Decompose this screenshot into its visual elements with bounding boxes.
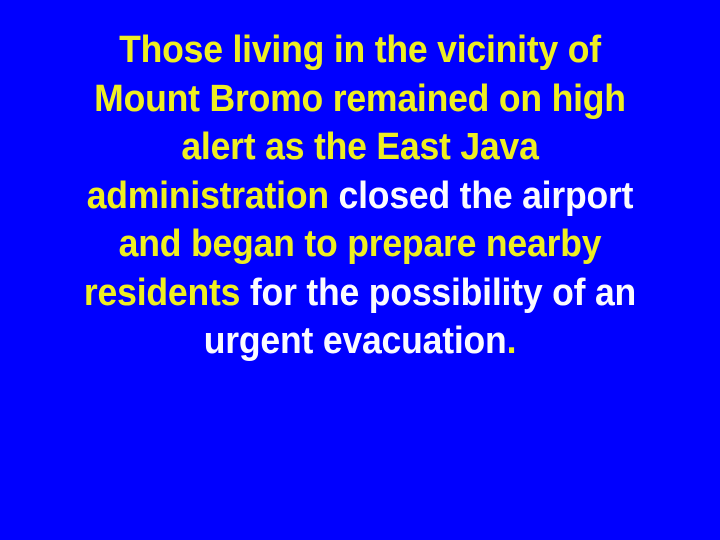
caption-segment-white: for the possibility of an <box>240 272 636 314</box>
caption-line: administration closed the airport <box>23 172 696 221</box>
caption-segment-yellow: . <box>507 320 517 362</box>
caption-segment-yellow: Mount Bromo remained on high <box>94 78 626 120</box>
caption-segment-yellow: and began to prepare nearby <box>119 223 602 265</box>
caption-line: alert as the East Java <box>23 123 696 172</box>
caption-line: residents for the possibility of an <box>23 269 696 318</box>
caption-line: and began to prepare nearby <box>23 220 696 269</box>
caption-line: Mount Bromo remained on high <box>23 75 696 124</box>
caption-segment-yellow: alert as the East Java <box>181 126 538 168</box>
caption-segment-yellow: Those living in the vicinity of <box>119 29 601 71</box>
caption-segment-white: closed the airport <box>329 175 633 217</box>
caption-segment-yellow: residents <box>84 272 240 314</box>
caption-line: Those living in the vicinity of <box>23 26 696 75</box>
caption-segment-white: urgent evacuation <box>204 320 507 362</box>
caption-line: urgent evacuation. <box>23 317 696 366</box>
caption-segment-yellow: administration <box>87 175 329 217</box>
caption-text-block: Those living in the vicinity ofMount Bro… <box>0 26 720 366</box>
slide-canvas: Those living in the vicinity ofMount Bro… <box>0 0 720 540</box>
